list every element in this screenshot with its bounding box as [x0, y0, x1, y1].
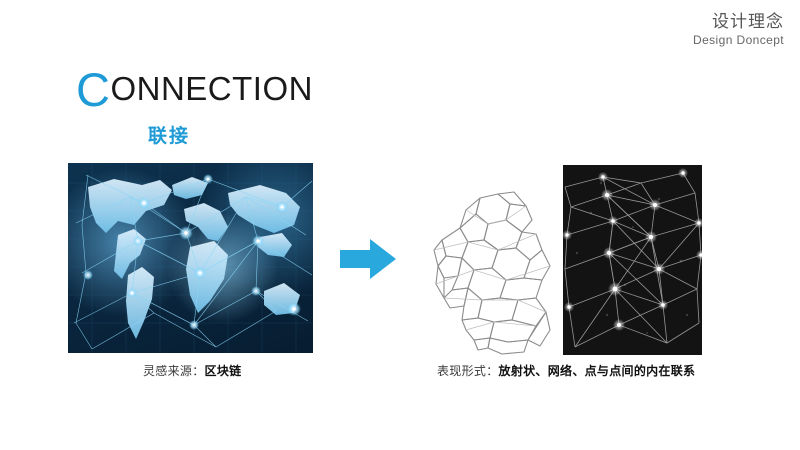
page-subtitle: 联接 [148, 121, 313, 148]
slide-header: 设计理念 Design Doncept [693, 12, 784, 47]
title-block: CONNECTION 联接 [76, 66, 313, 148]
arrow-right-icon [340, 237, 396, 281]
caption-left: 灵感来源：区块链 [143, 362, 241, 379]
caption-right-strong: 放射状、网络、点与点间的内在联系 [499, 364, 696, 378]
caption-right: 表现形式：放射状、网络、点与点间的内在联系 [437, 362, 695, 379]
caption-left-strong: 区块链 [205, 364, 242, 378]
title-drop-cap: C [76, 63, 110, 116]
world-map-figure [68, 163, 313, 353]
header-title-cn: 设计理念 [693, 12, 784, 32]
mesh-figure [432, 180, 560, 355]
caption-left-lead: 灵感来源： [143, 364, 205, 378]
header-title-en: Design Doncept [693, 34, 784, 48]
world-map-image [68, 163, 313, 353]
network-figure [563, 165, 702, 355]
title-main-rest: ONNECTION [110, 70, 313, 107]
caption-right-lead: 表现形式： [437, 364, 499, 378]
page-title: CONNECTION [76, 66, 313, 113]
slide-canvas: 设计理念 Design Doncept CONNECTION 联接 [0, 0, 800, 450]
